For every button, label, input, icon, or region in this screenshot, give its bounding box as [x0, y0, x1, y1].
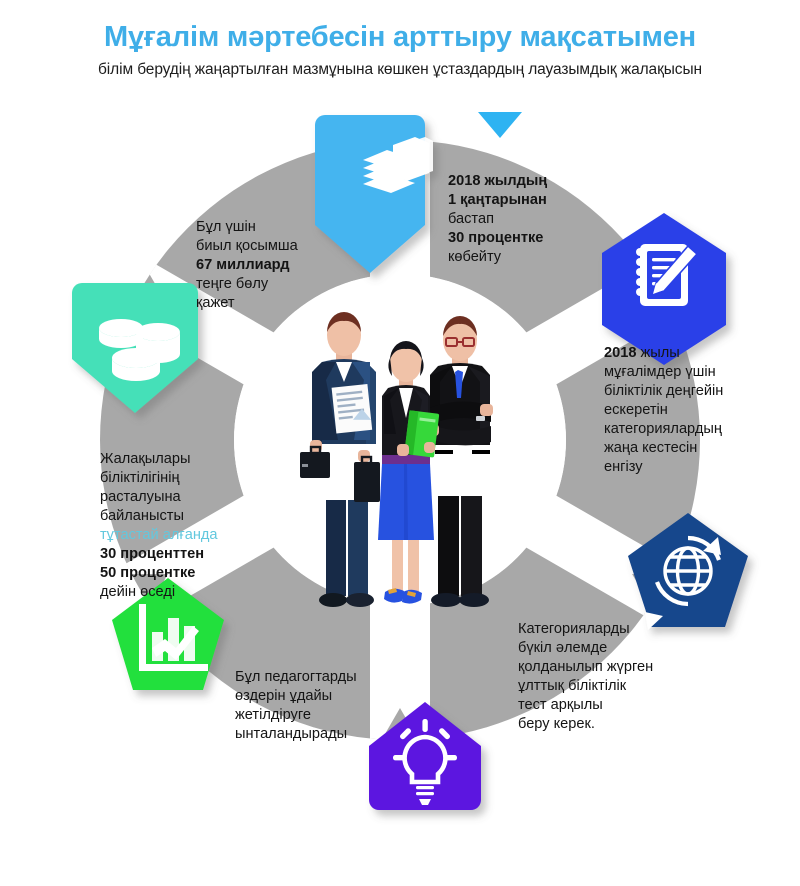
segment-line: ескеретін — [604, 402, 668, 418]
segment-line: Бұл педагогтарды — [235, 669, 357, 685]
segment-line: расталуына — [100, 489, 181, 505]
segment-line: жетілдіруге — [235, 707, 311, 723]
segment-line: 2018 — [604, 345, 636, 361]
segment-line: мұғалімдер үшін — [604, 364, 716, 380]
segment-line: көбейту — [448, 249, 501, 265]
segment-line: қолданылып жүрген — [518, 659, 653, 675]
infographic-canvas: Мұғалім мәртебесін арттыру мақсатымен бі… — [0, 0, 800, 886]
segment-line: беру керек. — [518, 716, 595, 732]
segment-line: ұлттық біліктілік — [518, 678, 626, 694]
down-triangle-pointer — [478, 112, 522, 138]
segment-line: байланысты — [100, 508, 184, 524]
segment-line: біліктілігінің — [100, 470, 180, 486]
segment-line: біліктілік деңгейін — [604, 383, 723, 399]
segment-line: жаңа кестесін — [604, 440, 697, 456]
segment-line: дейін өседі — [100, 584, 175, 600]
segment-text-left-top: Бұл үшін биыл қосымша 67 миллиард теңге … — [196, 218, 346, 313]
segment-text-left-bottom: Жалақылары біліктілігінің расталуына бай… — [100, 450, 242, 602]
notebook-pen-icon — [636, 244, 697, 306]
segment-line: енгізу — [604, 459, 643, 475]
segment-line: 50 процентке — [100, 565, 195, 581]
segment-line: категориялардың — [604, 421, 722, 437]
man-navy-suit-with-documents-and-briefcase — [300, 312, 380, 607]
segment-line: Бұл үшін — [196, 219, 256, 235]
segment-line: тест арқылы — [518, 697, 603, 713]
segment-line: жылы — [636, 345, 679, 361]
segment-line: қажет — [196, 295, 235, 311]
segment-line: биыл қосымша — [196, 238, 298, 254]
segment-text-right-bottom: Категорияларды бүкіл әлемде қолданылып ж… — [518, 620, 686, 734]
segment-line: бүкіл әлемде — [518, 640, 607, 656]
three-professionals-illustration — [296, 300, 508, 624]
segment-line: ынталандырады — [235, 726, 347, 742]
segment-line: 1 қаңтарынан — [448, 192, 547, 208]
segment-line: Категорияларды — [518, 621, 630, 637]
segment-line: өздерін ұдайы — [235, 688, 332, 704]
segment-line: бастап — [448, 211, 494, 227]
segment-text-right: 2018 жылы мұғалімдер үшін біліктілік дең… — [604, 344, 762, 477]
segment-line: Жалақылары — [100, 451, 191, 467]
segment-line-highlight: тұтастай алғанда — [100, 527, 218, 543]
man-black-suit-blue-tie-glasses-arms-crossed — [426, 316, 493, 607]
segment-line: теңге бөлу — [196, 276, 268, 292]
segment-text-bottom: Бұл педагогтарды өздерін ұдайы жетілдіру… — [235, 668, 405, 744]
segment-line: 2018 жылдың — [448, 173, 547, 189]
segment-line: 30 проценттен — [100, 546, 204, 562]
segment-line: 30 процентке — [448, 230, 543, 246]
segment-line: 67 миллиард — [196, 257, 290, 273]
segment-text-top: 2018 жылдың 1 қаңтарынан бастап 30 проце… — [448, 172, 598, 267]
